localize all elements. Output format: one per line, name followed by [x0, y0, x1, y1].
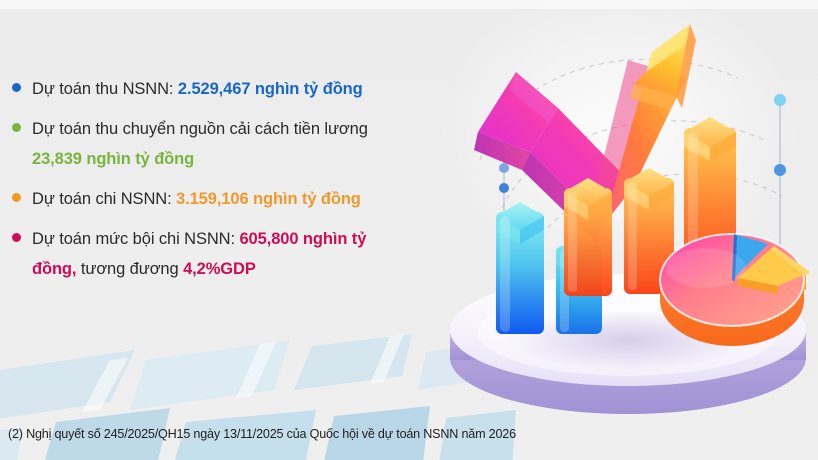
bar-orange-mid [564, 178, 612, 296]
bullet-label-salary-reform: Dự toán thu chuyển nguồn cải cách tiền l… [32, 120, 368, 138]
3d-growth-chart-illustration [438, 0, 818, 460]
bullet-item-revenue: Dự toán thu NSNN: 2.529,467 nghìn tỷ đồn… [8, 74, 460, 104]
bullet-item-salary-reform: Dự toán thu chuyển nguồn cải cách tiền l… [8, 114, 460, 174]
bullet-value-deficit-gdp: 4,2%GDP [183, 260, 256, 278]
accent-dot-left-lower [499, 183, 509, 193]
bullet-text-revenue: Dự toán thu NSNN: 2.529,467 nghìn tỷ đồn… [32, 74, 363, 104]
accent-dot-left-upper [499, 163, 509, 173]
bullet-text-expenditure: Dự toán chi NSNN: 3.159,106 nghìn tỷ đồn… [32, 184, 361, 214]
screenshot-stage: Dự toán thu NSNN: 2.529,467 nghìn tỷ đồn… [0, 0, 818, 460]
bullet-dot-crimson [12, 233, 21, 242]
bullet-dot-orange [12, 193, 21, 202]
bar-cyan-tall [496, 202, 544, 334]
bullet-label-deficit-mid: tương đương [76, 260, 183, 278]
3d-pie-chart [660, 234, 810, 346]
bullet-text-deficit: Dự toán mức bội chi NSNN: 605,800 nghìn … [32, 224, 366, 284]
bullet-dot-green [12, 123, 21, 132]
accent-dot-right-upper [774, 94, 786, 106]
bullet-value-revenue: 2.529,467 nghìn tỷ đồng [178, 80, 363, 98]
bullet-value-deficit: 605,800 nghìn tỷ [239, 230, 366, 248]
bullet-label-deficit: Dự toán mức bội chi NSNN: [32, 230, 239, 248]
bullet-item-deficit: Dự toán mức bội chi NSNN: 605,800 nghìn … [8, 224, 460, 284]
bullet-label-revenue: Dự toán thu NSNN: [32, 80, 178, 98]
bullet-list: Dự toán thu NSNN: 2.529,467 nghìn tỷ đồn… [8, 74, 460, 294]
bullet-label-expenditure: Dự toán chi NSNN: [32, 190, 176, 208]
footnote: (2) Nghị quyết số 245/2025/QH15 ngày 13/… [8, 427, 516, 441]
accent-dot-right-lower [774, 164, 786, 176]
bullet-value-deficit-cont: đồng, [32, 260, 76, 278]
bullet-item-expenditure: Dự toán chi NSNN: 3.159,106 nghìn tỷ đồn… [8, 184, 460, 214]
bullet-value-salary-reform: 23,839 nghìn tỷ đồng [32, 150, 194, 168]
bullet-dot-blue [12, 83, 21, 92]
bullet-value-expenditure: 3.159,106 nghìn tỷ đồng [176, 190, 361, 208]
bullet-text-salary-reform: Dự toán thu chuyển nguồn cải cách tiền l… [32, 114, 368, 174]
